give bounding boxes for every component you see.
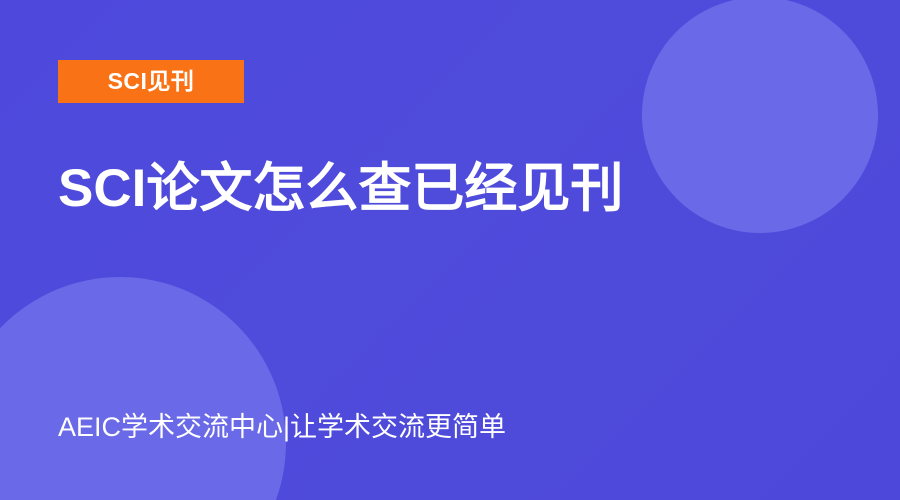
headline-title: SCI论文怎么查已经见刊 <box>58 160 623 217</box>
promo-banner: SCI见刊 SCI论文怎么查已经见刊 AEIC学术交流中心|让学术交流更简单 <box>0 0 900 500</box>
footer-tagline: AEIC学术交流中心|让学术交流更简单 <box>58 411 506 443</box>
category-badge: SCI见刊 <box>58 60 244 103</box>
category-badge-label: SCI见刊 <box>108 70 195 93</box>
banner-content: SCI见刊 SCI论文怎么查已经见刊 AEIC学术交流中心|让学术交流更简单 <box>0 0 900 500</box>
